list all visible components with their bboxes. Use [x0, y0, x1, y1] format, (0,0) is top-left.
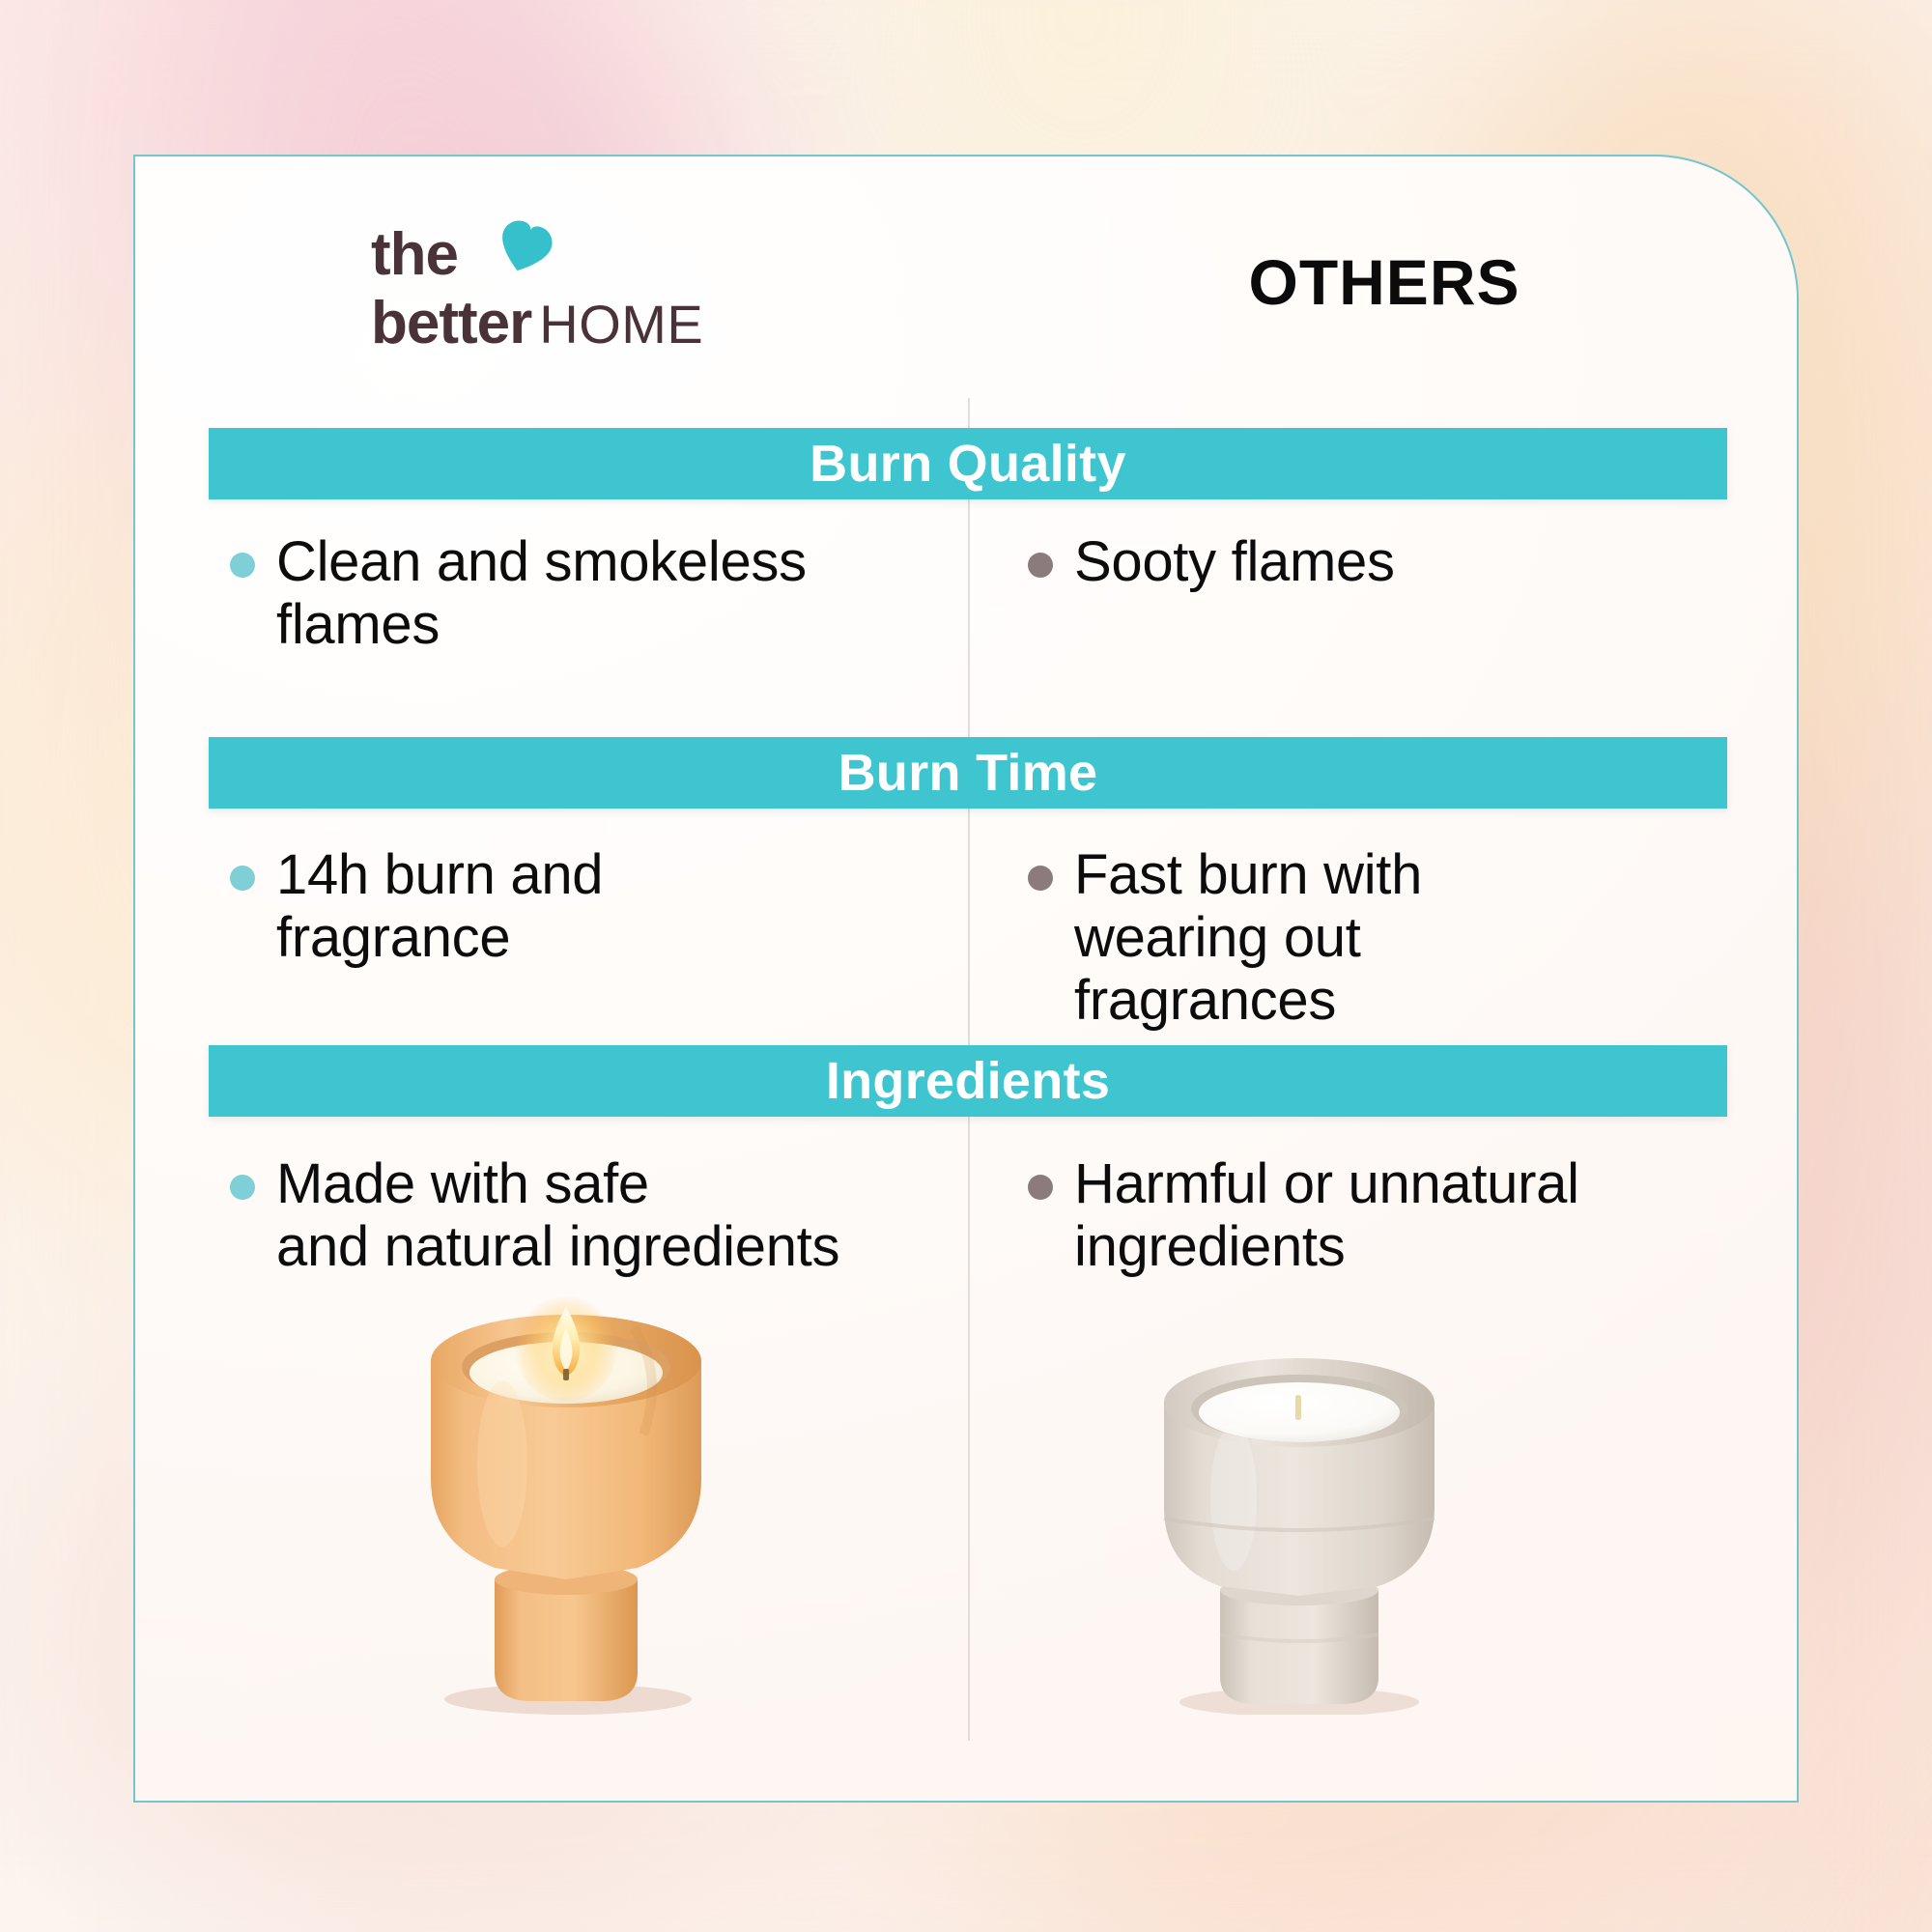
brand-logo-home: HOME: [539, 298, 703, 352]
card-header: the better HOME OTHERS: [135, 205, 1801, 379]
brand-logo-line1: the: [371, 226, 815, 286]
others-cell-ingredients: Harmful or unnatural ingredients: [1028, 1153, 1762, 1279]
brand-candle-image: [406, 1290, 724, 1715]
brand-logo: the better HOME: [371, 226, 815, 354]
bullet-dot-icon: [230, 866, 255, 891]
bullet-dot-icon: [1028, 866, 1053, 891]
bullet-dot-icon: [1028, 1175, 1053, 1200]
heart-icon: [495, 218, 554, 278]
bullet-dot-icon: [230, 553, 255, 578]
bullet-dot-icon: [1028, 553, 1053, 578]
section-banner-ingredients: Ingredients: [209, 1045, 1727, 1117]
brand-logo-line2: better HOME: [371, 294, 815, 354]
brand-logo-better: better: [371, 294, 531, 354]
section-title: Burn Quality: [810, 434, 1126, 494]
others-column-title: OTHERS: [968, 245, 1801, 319]
brand-bullet-text: Made with safe and natural ingredients: [276, 1153, 839, 1279]
infographic-canvas: the better HOME OTHERS: [0, 0, 1932, 1932]
brand-bullet-text: 14h burn and fragrance: [276, 844, 603, 970]
bullet-dot-icon: [230, 1175, 255, 1200]
section-title: Burn Time: [838, 743, 1098, 803]
others-bullet-text: Harmful or unnatural ingredients: [1074, 1153, 1579, 1279]
comparison-card: the better HOME OTHERS: [133, 155, 1799, 1803]
brand-cell-burn-quality: Clean and smokeless flames: [230, 531, 945, 657]
others-bullet-text: Sooty flames: [1074, 531, 1395, 594]
others-cell-burn-time: Fast burn with wearing out fragrances: [1028, 844, 1762, 1033]
section-banner-burn-quality: Burn Quality: [209, 428, 1727, 499]
brand-cell-ingredients: Made with safe and natural ingredients: [230, 1153, 945, 1279]
brand-bullet-text: Clean and smokeless flames: [276, 531, 807, 657]
brand-logo-the: the: [371, 221, 458, 288]
brand-cell-burn-time: 14h burn and fragrance: [230, 844, 945, 970]
section-banner-burn-time: Burn Time: [209, 737, 1727, 809]
others-candle-image: [1145, 1352, 1452, 1715]
others-bullet-text: Fast burn with wearing out fragrances: [1074, 844, 1422, 1033]
others-cell-burn-quality: Sooty flames: [1028, 531, 1762, 594]
section-title: Ingredients: [826, 1051, 1110, 1111]
